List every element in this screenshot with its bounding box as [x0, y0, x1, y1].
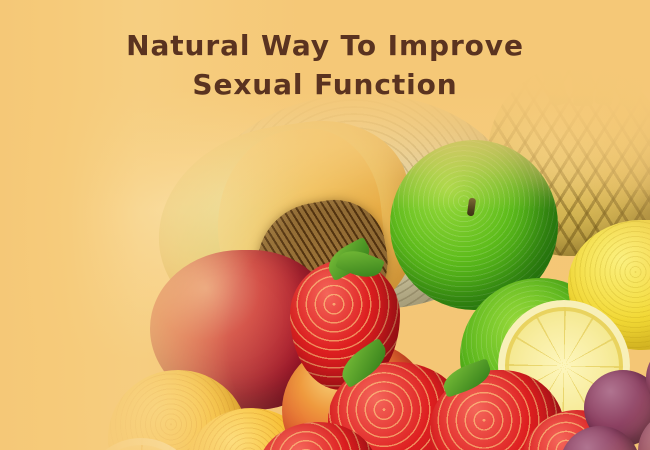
fruit-photo: [90, 70, 650, 450]
promo-banner: Natural Way To Improve Sexual Function: [0, 0, 650, 450]
